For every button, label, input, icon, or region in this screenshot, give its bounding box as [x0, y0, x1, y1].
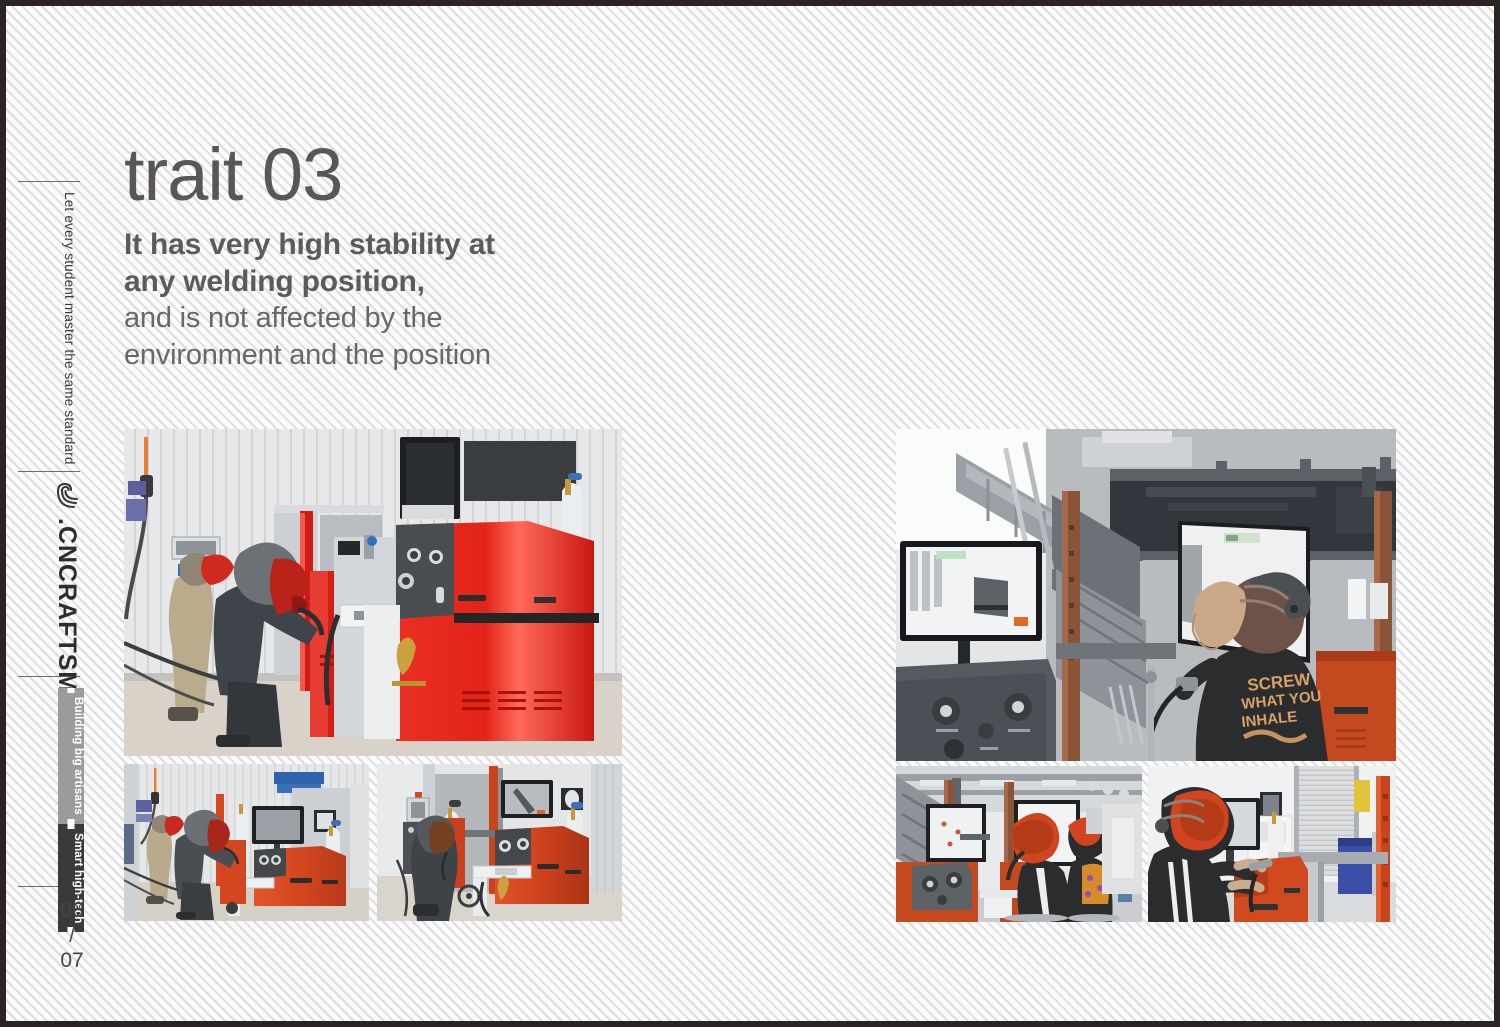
page-number-separator: /: [50, 923, 94, 948]
sidebar-tag-label: Building big artisans: [72, 697, 84, 815]
headline-block: trait 03 It has very high stability at a…: [124, 138, 744, 374]
gallery-photo: [124, 764, 369, 921]
gallery-photo: [124, 429, 622, 756]
brochure-page: Let every student master the same standa…: [0, 0, 1500, 1027]
headline-regular-line-2: environment and the position: [124, 337, 744, 374]
tag-notch-top: [68, 688, 75, 693]
gallery-photo: [1148, 766, 1396, 922]
sidebar-tag-group: Building big artisans Smart high-tech: [58, 688, 84, 932]
gallery-photo: [377, 764, 622, 921]
page-title: trait 03: [124, 138, 744, 212]
rail-divider-2: [18, 471, 80, 472]
page-number-total: 07: [50, 948, 94, 973]
sidebar-tag-building-big-artisans: Building big artisans: [58, 688, 84, 824]
gallery-photo: [896, 766, 1142, 922]
rail-divider-1: [18, 181, 80, 182]
left-rail: Let every student master the same standa…: [6, 6, 106, 1021]
headline-bold-line-1: It has very high stability at: [124, 226, 744, 263]
page-number: 06 / 07: [50, 898, 94, 973]
tag-notch-top: [68, 824, 75, 829]
spiral-square-logo-icon: [52, 481, 82, 511]
headline-bold-line-2: any welding position,: [124, 263, 744, 300]
page-number-current: 06: [50, 898, 94, 923]
headline-regular-line-1: and is not affected by the: [124, 300, 744, 337]
gallery-photo: SCREW WHAT YOU INHALE: [896, 429, 1396, 761]
sidebar-tagline: Let every student master the same standa…: [62, 192, 77, 465]
